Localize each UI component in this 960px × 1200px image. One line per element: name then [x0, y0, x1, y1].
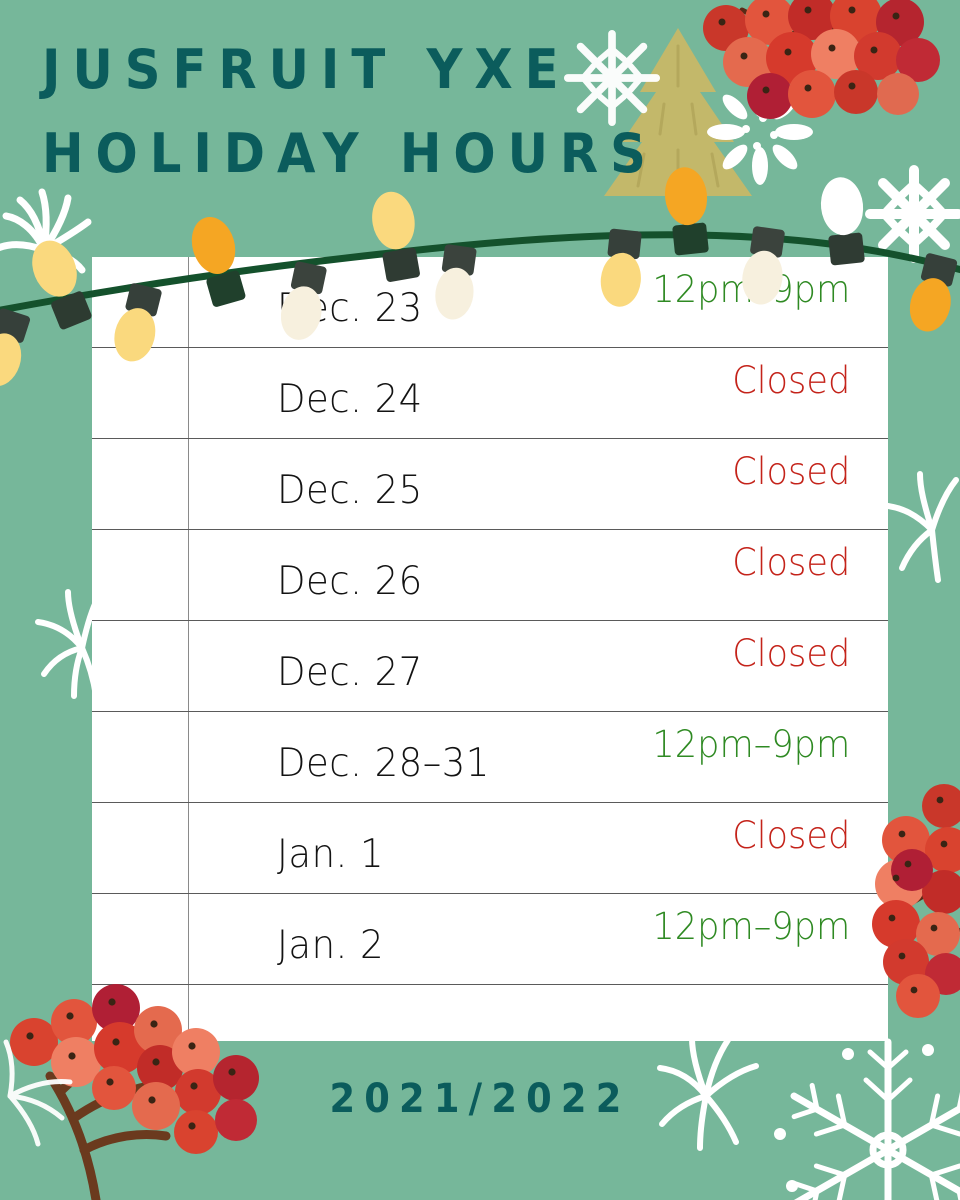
table-body: Dec. 23 12pm–9pm Dec. 24 Closed	[92, 257, 888, 1041]
row-marker-cell	[92, 712, 189, 803]
table-row: Dec. 26 Closed	[92, 530, 888, 621]
date-label: Dec. 24	[277, 377, 423, 422]
hours-label: Closed	[732, 450, 850, 493]
snowflake-icon	[707, 79, 813, 185]
title-line-2: HOLIDAY HOURS	[42, 112, 612, 196]
table-row: Jan. 1 Closed	[92, 803, 888, 894]
date-label: Dec. 25	[277, 468, 423, 513]
date-label: Dec. 26	[277, 559, 423, 604]
hours-label: Closed	[732, 814, 850, 857]
sparkle-burst-icon	[38, 592, 100, 696]
row-marker-cell	[92, 985, 189, 1041]
row-marker-cell	[92, 348, 189, 439]
date-label: Jan. 1	[277, 832, 384, 877]
row-content-cell: Jan. 2 12pm–9pm	[189, 894, 889, 985]
table-row: Dec. 25 Closed	[92, 439, 888, 530]
poster-canvas: JUSFRUIT YXE HOLIDAY HOURS Dec. 23 12pm–…	[0, 0, 960, 1200]
footer-year: 2021/2022	[38, 1076, 921, 1122]
row-content-cell: Dec. 27 Closed	[189, 621, 889, 712]
hours-label: Closed	[732, 359, 850, 402]
table-row: Dec. 27 Closed	[92, 621, 888, 712]
date-label: Dec. 23	[277, 286, 423, 331]
row-content-cell	[189, 985, 889, 1041]
row-content-cell: Dec. 28–31 12pm–9pm	[189, 712, 889, 803]
row-marker-cell	[92, 439, 189, 530]
table-row-empty	[92, 985, 888, 1041]
poster-title: JUSFRUIT YXE HOLIDAY HOURS	[42, 28, 662, 196]
row-content-cell: Jan. 1 Closed	[189, 803, 889, 894]
hours-label: 12pm–9pm	[652, 268, 850, 311]
snowflake-icon	[870, 170, 958, 258]
hours-label: 12pm–9pm	[652, 905, 850, 948]
table-row: Jan. 2 12pm–9pm	[92, 894, 888, 985]
row-marker-cell	[92, 803, 189, 894]
hours-label: Closed	[732, 541, 850, 584]
date-label: Dec. 28–31	[277, 741, 490, 786]
row-marker-cell	[92, 530, 189, 621]
hours-label: Closed	[732, 632, 850, 675]
hours-label: 12pm–9pm	[652, 723, 850, 766]
table-row: Dec. 23 12pm–9pm	[92, 257, 888, 348]
table-row: Dec. 24 Closed	[92, 348, 888, 439]
row-content-cell: Dec. 25 Closed	[189, 439, 889, 530]
title-line-1: JUSFRUIT YXE	[42, 28, 612, 112]
berry-cluster-icon	[703, 0, 940, 119]
date-label: Dec. 27	[277, 650, 423, 695]
sparkle-burst-icon	[888, 474, 956, 580]
row-content-cell: Dec. 23 12pm–9pm	[189, 257, 889, 348]
row-content-cell: Dec. 26 Closed	[189, 530, 889, 621]
sparkle-burst-icon	[0, 192, 88, 270]
row-marker-cell	[92, 894, 189, 985]
holiday-hours-table: Dec. 23 12pm–9pm Dec. 24 Closed	[92, 257, 888, 1041]
date-label: Jan. 2	[277, 923, 384, 968]
row-marker-cell	[92, 257, 189, 348]
table-row: Dec. 28–31 12pm–9pm	[92, 712, 888, 803]
row-marker-cell	[92, 621, 189, 712]
row-content-cell: Dec. 24 Closed	[189, 348, 889, 439]
